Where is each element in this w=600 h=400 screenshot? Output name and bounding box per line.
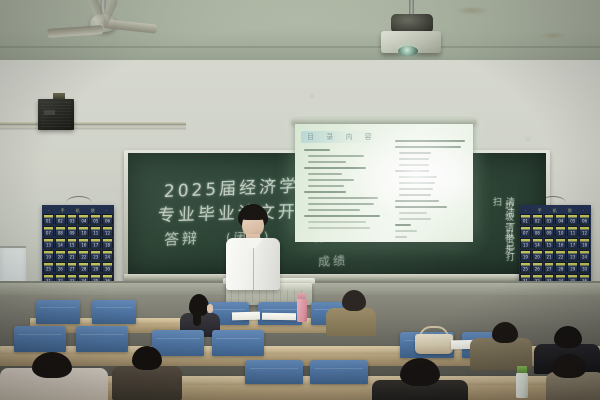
pocket-board-hook-left [66, 196, 92, 203]
phone-pocket-number: 30 [105, 268, 110, 272]
phone-pocket[interactable]: 08 [55, 226, 66, 237]
phone-pocket-number: 19 [523, 256, 528, 260]
slide-left-column [304, 149, 382, 233]
phone-pocket[interactable]: 02 [532, 214, 543, 225]
phone-pocket[interactable]: 26 [55, 262, 66, 273]
phone-pocket-number: 17 [570, 244, 575, 248]
phone-pocket-number: 24 [582, 256, 587, 260]
phone-pocket[interactable]: 12 [579, 226, 590, 237]
audience-hair [132, 346, 162, 370]
audience-member-4 [470, 322, 534, 370]
chair[interactable] [212, 330, 264, 356]
phone-pocket-number: 11 [93, 232, 98, 236]
audience-hair [492, 322, 518, 343]
phone-pocket-number: 15 [547, 244, 552, 248]
audience-hair [554, 326, 582, 348]
phone-pocket[interactable]: 21 [544, 250, 555, 261]
phone-pocket-number: 18 [105, 244, 110, 248]
audience-member-5 [0, 352, 110, 400]
audience-torso [112, 366, 182, 400]
phone-pocket[interactable]: 18 [579, 238, 590, 249]
phone-pocket-number: 13 [523, 244, 528, 248]
phone-pocket[interactable]: 28 [555, 262, 566, 273]
phone-pocket-number: 28 [81, 268, 86, 272]
phone-pocket-number: 23 [93, 256, 98, 260]
phone-pocket-number: 08 [58, 232, 63, 236]
phone-pocket[interactable]: 06 [102, 214, 113, 225]
presenter-student [218, 204, 288, 290]
audience-torso [326, 308, 376, 336]
pink-bottle-cap [298, 293, 306, 299]
pocket-hdr-mark: · [48, 208, 50, 213]
phone-pocket[interactable]: 19 [520, 250, 531, 261]
phone-pocket[interactable]: 08 [532, 226, 543, 237]
phone-pocket-number: 17 [93, 244, 98, 248]
slide-header-title: 目 录 内 容 [307, 132, 377, 142]
phone-pocket[interactable]: 18 [102, 238, 113, 249]
chalk-line-3: 答辩 [163, 227, 200, 250]
phone-pocket[interactable]: 24 [102, 250, 113, 261]
phone-pocket-number: 04 [558, 220, 563, 224]
pocket-hdr-mark: · [525, 208, 527, 213]
phone-pocket[interactable]: 25 [43, 262, 54, 273]
phone-pocket[interactable]: 20 [532, 250, 543, 261]
phone-pocket-number: 13 [46, 244, 51, 248]
phone-pocket-number: 02 [58, 220, 63, 224]
phone-pocket-number: 06 [582, 220, 587, 224]
phone-pocket[interactable]: 29 [567, 262, 578, 273]
phone-pocket[interactable]: 14 [532, 238, 543, 249]
phone-pocket[interactable]: 13 [43, 238, 54, 249]
phone-pocket[interactable]: 10 [555, 226, 566, 237]
chair[interactable] [245, 360, 303, 384]
phone-pocket[interactable]: 09 [544, 226, 555, 237]
phone-pocket-number: 05 [570, 220, 575, 224]
phone-pocket[interactable]: 05 [567, 214, 578, 225]
phone-pocket[interactable]: 22 [555, 250, 566, 261]
phone-pocket-number: 08 [535, 232, 540, 236]
phone-pocket-number: 27 [547, 268, 552, 272]
audience-hair [400, 358, 440, 386]
ceiling-fan [48, 0, 158, 44]
phone-pocket[interactable]: 06 [579, 214, 590, 225]
phone-pocket-number: 26 [58, 268, 63, 272]
phone-pocket-number: 04 [81, 220, 86, 224]
phone-pocket-number: 07 [523, 232, 528, 236]
phone-pocket-number: 09 [70, 232, 75, 236]
phone-pocket[interactable]: 01 [43, 214, 54, 225]
phone-pocket-number: 01 [523, 220, 528, 224]
phone-pocket[interactable]: 03 [544, 214, 555, 225]
phone-pocket-number: 03 [547, 220, 552, 224]
fan-blade [47, 25, 103, 38]
phone-pocket[interactable]: 02 [55, 214, 66, 225]
phone-pocket[interactable]: 07 [520, 226, 531, 237]
audience-member-2 [326, 290, 378, 336]
phone-pocket-number: 21 [547, 256, 552, 260]
phone-pocket[interactable]: 23 [567, 250, 578, 261]
phone-pocket[interactable]: 27 [544, 262, 555, 273]
fan-blade [103, 19, 158, 34]
phone-pocket[interactable]: 25 [520, 262, 531, 273]
phone-pocket-number: 23 [570, 256, 575, 260]
presenter-placket [253, 248, 254, 290]
phone-pocket-number: 22 [81, 256, 86, 260]
audience-face-sliver [207, 304, 213, 313]
phone-pocket-number: 25 [46, 268, 51, 272]
phone-pocket[interactable]: 12 [102, 226, 113, 237]
phone-pocket-number: 01 [46, 220, 51, 224]
phone-pocket-number: 16 [558, 244, 563, 248]
pocket-hdr-mark: 袋 [568, 208, 573, 214]
pocket-hdr-mark: · [106, 208, 108, 213]
audience-ponytail [193, 310, 201, 326]
phone-pocket-number: 11 [570, 232, 575, 236]
chair[interactable] [14, 326, 66, 352]
phone-pocket[interactable]: 10 [78, 226, 89, 237]
pocket-hdr-mark: 机 [76, 208, 81, 214]
phone-pocket-number: 03 [70, 220, 75, 224]
slide-right-column [395, 140, 467, 242]
phone-pocket[interactable]: 30 [102, 262, 113, 273]
audience-hair [342, 290, 366, 311]
phone-pocket-number: 14 [535, 244, 540, 248]
chalk-note-5: 成绩 [318, 251, 349, 270]
phone-pocket-number: 05 [93, 220, 98, 224]
pocket-hdr-mark: 机 [553, 208, 558, 214]
phone-pocket[interactable]: 27 [67, 262, 78, 273]
audience-member-6 [112, 346, 182, 400]
phone-pocket[interactable]: 15 [544, 238, 555, 249]
phone-pocket[interactable]: 15 [67, 238, 78, 249]
audience-member-8 [546, 354, 600, 400]
paper-stack [232, 312, 260, 321]
phone-pocket[interactable]: 11 [567, 226, 578, 237]
phone-pocket[interactable]: 30 [579, 262, 590, 273]
chair[interactable] [310, 360, 368, 384]
phone-pocket-number: 29 [570, 268, 575, 272]
phone-pocket[interactable]: 17 [90, 238, 101, 249]
phone-pocket-number: 15 [70, 244, 75, 248]
phone-pocket-number: 06 [105, 220, 110, 224]
phone-pocket[interactable]: 21 [67, 250, 78, 261]
phone-pocket-number: 24 [105, 256, 110, 260]
phone-pocket[interactable]: 05 [90, 214, 101, 225]
pocket-hdr-mark: 袋 [91, 208, 96, 214]
phone-pocket-number: 10 [558, 232, 563, 236]
phone-pocket-number: 26 [535, 268, 540, 272]
phone-pocket-number: 10 [81, 232, 86, 236]
phone-pocket[interactable]: 01 [520, 214, 531, 225]
audience-hair [552, 354, 586, 378]
phone-pocket-number: 30 [582, 268, 587, 272]
phone-pocket-number: 19 [46, 256, 51, 260]
phone-pocket[interactable]: 24 [579, 250, 590, 261]
phone-pocket[interactable]: 16 [78, 238, 89, 249]
phone-pocket-number: 20 [535, 256, 540, 260]
phone-pocket-number: 16 [81, 244, 86, 248]
chalk-vertical-note-2: 垃圾请带走 [502, 201, 515, 265]
phone-pocket[interactable]: 26 [532, 262, 543, 273]
phone-pocket-number: 02 [535, 220, 540, 224]
water-bottle [516, 372, 528, 398]
phone-pocket[interactable]: 09 [67, 226, 78, 237]
pocket-hdr-mark: 手 [61, 208, 66, 214]
water-bottle-cap [517, 366, 527, 373]
audience-hair [32, 352, 72, 378]
phone-pocket-number: 07 [46, 232, 51, 236]
projection-screen: 目 录 内 容 [295, 124, 473, 242]
pocket-hdr-mark: · [583, 208, 585, 213]
phone-pocket-number: 14 [58, 244, 63, 248]
phone-pocket[interactable]: 19 [43, 250, 54, 261]
classroom-photo: 2025届经济学 专业毕业论文开题 答辩 (闭卷) 评审 (讲) (书) 成绩 … [0, 0, 600, 400]
phone-pocket[interactable]: 03 [67, 214, 78, 225]
pocket-board-hook-right [540, 196, 566, 203]
phone-pocket[interactable]: 04 [555, 214, 566, 225]
phone-pocket[interactable]: 16 [555, 238, 566, 249]
wall-rail [0, 122, 186, 125]
phone-pocket-number: 20 [58, 256, 63, 260]
slide-content: 目 录 内 容 [295, 124, 473, 242]
phone-pocket-number: 27 [70, 268, 75, 272]
phone-pocket[interactable]: 28 [78, 262, 89, 273]
phone-pocket-number: 21 [70, 256, 75, 260]
pocket-board-left-header: · 手 机 袋 · [43, 207, 113, 214]
projector-lens-icon [398, 46, 418, 56]
phone-pocket[interactable]: 23 [90, 250, 101, 261]
phone-pocket-number: 28 [558, 268, 563, 272]
pocket-hdr-mark: 手 [538, 208, 543, 214]
pocket-board-right-header: · 手 机 袋 · [520, 207, 590, 214]
presenter-fringe [239, 208, 267, 220]
phone-pocket[interactable]: 17 [567, 238, 578, 249]
phone-pocket-number: 18 [582, 244, 587, 248]
chalk-tray [124, 274, 550, 281]
phone-pocket-number: 29 [93, 268, 98, 272]
phone-pocket[interactable]: 07 [43, 226, 54, 237]
phone-pocket[interactable]: 13 [520, 238, 531, 249]
phone-pocket[interactable]: 29 [90, 262, 101, 273]
chair[interactable] [36, 300, 80, 324]
phone-pocket-number: 12 [105, 232, 110, 236]
pink-water-bottle [297, 298, 307, 322]
phone-pocket-number: 22 [558, 256, 563, 260]
phone-pocket[interactable]: 14 [55, 238, 66, 249]
beige-handbag [415, 334, 453, 354]
chair[interactable] [92, 300, 136, 324]
phone-pocket[interactable]: 22 [78, 250, 89, 261]
audience-member-7 [372, 358, 468, 400]
paper-stack [262, 313, 296, 320]
phone-pocket[interactable]: 04 [78, 214, 89, 225]
phone-pocket[interactable]: 20 [55, 250, 66, 261]
phone-pocket[interactable]: 11 [90, 226, 101, 237]
phone-pocket-number: 25 [523, 268, 528, 272]
phone-pocket-number: 12 [582, 232, 587, 236]
phone-pocket-number: 09 [547, 232, 552, 236]
